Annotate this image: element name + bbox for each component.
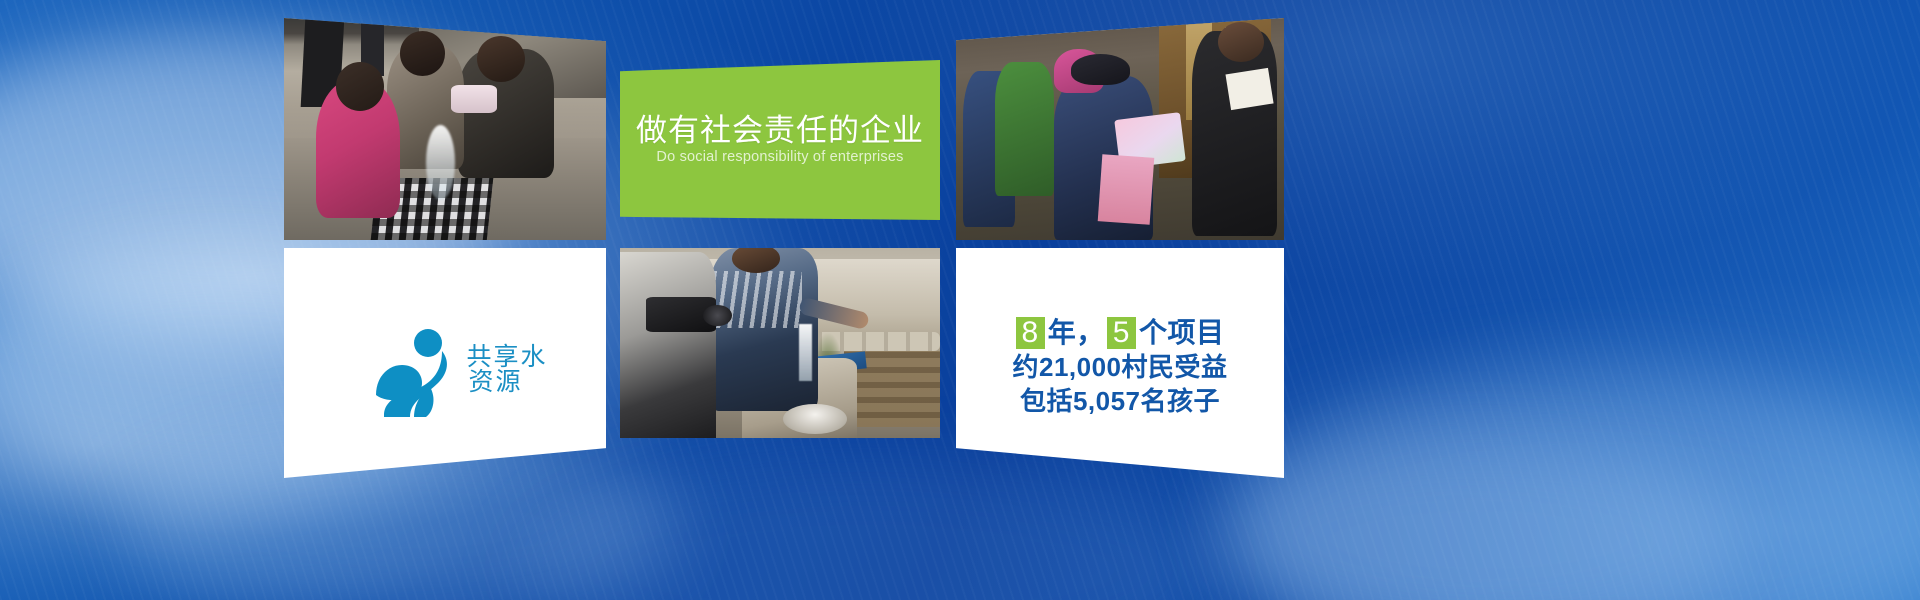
csr-banner: 做有社会责任的企业 Do social responsibility of en… [0, 0, 1920, 600]
stats-line-children: 包括5,057名孩子 [1020, 386, 1220, 417]
photo-image [620, 248, 940, 438]
photo-image [956, 18, 1284, 240]
impact-stats-card: 8 年， 5 个项目 约21,000村民受益 包括5,057名孩子 [956, 248, 1284, 478]
logo-line-1: 共享水 [466, 344, 547, 370]
statement-title-cn: 做有社会责任的企业 [636, 114, 924, 147]
logo-card: 共享水 资源 [284, 248, 606, 478]
stats-line-villagers: 约21,000村民受益 [1012, 352, 1227, 383]
stat-projects-unit: 个项目 [1139, 317, 1225, 349]
photo-collage: 做有社会责任的企业 Do social responsibility of en… [284, 0, 1284, 478]
stats-line-projects: 8 年， 5 个项目 [1016, 317, 1225, 349]
stat-years-unit: 年， [1048, 317, 1105, 349]
shared-water-resources-logo-icon [370, 321, 456, 417]
green-statement-panel: 做有社会责任的企业 Do social responsibility of en… [620, 60, 940, 220]
statement-subtitle-en: Do social responsibility of enterprises [656, 150, 903, 166]
stat-projects-number: 5 [1107, 317, 1136, 349]
photo-villagers-receiving-supplies [956, 18, 1284, 240]
logo-line-2: 资源 [466, 369, 547, 395]
photo-image [284, 18, 606, 240]
stat-years-number: 8 [1016, 317, 1045, 349]
photo-children-at-water-tap [284, 18, 606, 240]
logo-wordmark: 共享水 资源 [466, 344, 547, 395]
photo-man-pouring-water [620, 248, 940, 438]
